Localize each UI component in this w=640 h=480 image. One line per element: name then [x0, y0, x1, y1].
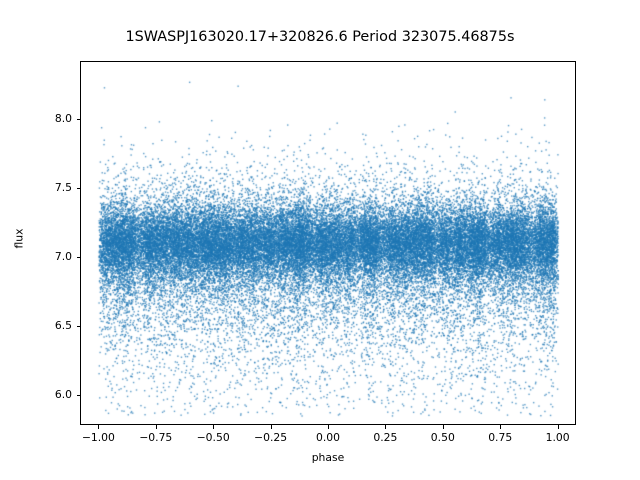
- x-tick-label: 0.25: [355, 431, 415, 444]
- x-tick-mark: [558, 425, 559, 429]
- matplotlib-figure: 1SWASPJ163020.17+320826.6 Period 323075.…: [0, 0, 640, 480]
- x-tick-label: 0.50: [413, 431, 473, 444]
- x-tick-label: −0.50: [183, 431, 243, 444]
- y-tick-mark: [77, 257, 81, 258]
- x-tick-mark: [156, 425, 157, 429]
- y-tick-mark: [77, 188, 81, 189]
- plot-axes: [80, 61, 576, 425]
- x-tick-mark: [500, 425, 501, 429]
- y-tick-label: 8.0: [26, 112, 72, 125]
- x-tick-label: −1.00: [68, 431, 128, 444]
- x-tick-label: −0.25: [241, 431, 301, 444]
- y-tick-mark: [77, 395, 81, 396]
- y-tick-label: 6.5: [26, 319, 72, 332]
- x-tick-mark: [385, 425, 386, 429]
- y-tick-label: 7.0: [26, 250, 72, 263]
- y-tick-mark: [77, 326, 81, 327]
- x-tick-label: −0.75: [126, 431, 186, 444]
- x-tick-mark: [213, 425, 214, 429]
- x-tick-mark: [443, 425, 444, 429]
- page-title: 1SWASPJ163020.17+320826.6 Period 323075.…: [0, 29, 640, 45]
- x-tick-label: 0.00: [298, 431, 358, 444]
- y-tick-mark: [77, 119, 81, 120]
- y-tick-label: 6.0: [26, 388, 72, 401]
- x-tick-mark: [328, 425, 329, 429]
- y-tick-label: 7.5: [26, 181, 72, 194]
- scatter-point-cloud: [81, 62, 575, 424]
- x-tick-mark: [98, 425, 99, 429]
- x-tick-label: 0.75: [470, 431, 530, 444]
- x-tick-label: 1.00: [528, 431, 588, 444]
- x-axis-label: phase: [80, 451, 576, 464]
- x-tick-mark: [271, 425, 272, 429]
- y-axis-label: flux: [13, 199, 26, 279]
